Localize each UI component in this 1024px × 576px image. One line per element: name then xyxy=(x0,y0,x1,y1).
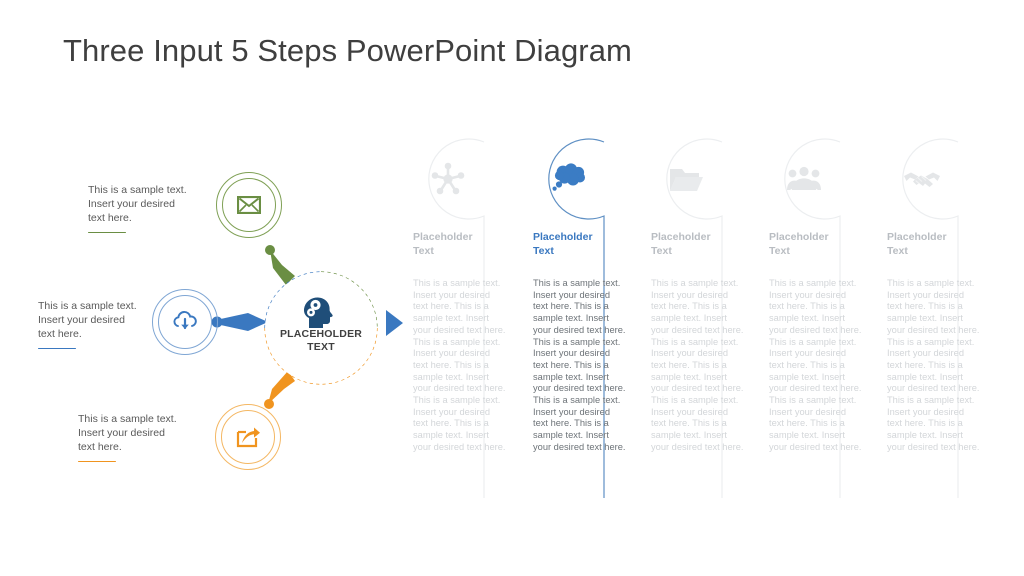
connector-blue xyxy=(216,313,268,331)
input-node-cloud-download[interactable] xyxy=(152,289,218,355)
step-card-5-title: Placeholder Text xyxy=(887,230,987,258)
input-node-email[interactable] xyxy=(216,172,282,238)
step-card-3-title: Placeholder Text xyxy=(651,230,751,258)
hub-label: PLACEHOLDER TEXT xyxy=(265,328,377,354)
people-group-icon xyxy=(769,144,839,214)
step-card-5[interactable]: Placeholder Text This is a sample text. … xyxy=(874,138,992,502)
step-card-4[interactable]: Placeholder Text This is a sample text. … xyxy=(756,138,874,502)
thought-bubble-icon xyxy=(533,144,603,214)
step-card-3-body: This is a sample text. Insert your desir… xyxy=(651,278,745,454)
input-cloud-text: This is a sample text. Insert your desir… xyxy=(38,299,150,342)
share-export-icon xyxy=(215,404,281,470)
input-cloud-rule xyxy=(38,348,76,349)
handshake-icon xyxy=(887,144,957,214)
step-card-1-body: This is a sample text. Insert your desir… xyxy=(413,278,507,454)
input-share-text: This is a sample text. Insert your desir… xyxy=(78,412,190,455)
head-with-gears-icon xyxy=(265,295,377,331)
step-card-2-title: Placeholder Text xyxy=(533,230,633,258)
step-card-4-title: Placeholder Text xyxy=(769,230,869,258)
step-card-3[interactable]: Placeholder Text This is a sample text. … xyxy=(638,138,756,502)
step-card-5-body: This is a sample text. Insert your desir… xyxy=(887,278,981,454)
step-card-4-body: This is a sample text. Insert your desir… xyxy=(769,278,863,454)
slide-canvas: Three Input 5 Steps PowerPoint Diagram T… xyxy=(0,0,1024,576)
input-block-email: This is a sample text. Insert your desir… xyxy=(88,183,200,233)
step-card-1-title: Placeholder Text xyxy=(413,230,513,258)
hub-center[interactable]: PLACEHOLDER TEXT xyxy=(265,272,377,384)
step-card-1[interactable]: Placeholder Text This is a sample text. … xyxy=(400,138,518,502)
folder-icon xyxy=(651,144,721,214)
input-email-rule xyxy=(88,232,126,233)
step-card-2-body: This is a sample text. Insert your desir… xyxy=(533,278,627,454)
page-title: Three Input 5 Steps PowerPoint Diagram xyxy=(63,33,632,69)
input-email-text: This is a sample text. Insert your desir… xyxy=(88,183,200,226)
cloud-download-icon xyxy=(152,289,218,355)
connector-green-dot xyxy=(265,245,275,255)
input-node-share[interactable] xyxy=(215,404,281,470)
input-share-rule xyxy=(78,461,116,462)
envelope-icon xyxy=(216,172,282,238)
network-hub-icon xyxy=(413,144,483,214)
input-block-cloud: This is a sample text. Insert your desir… xyxy=(38,299,150,349)
step-card-2[interactable]: Placeholder Text This is a sample text. … xyxy=(520,138,638,502)
input-block-share: This is a sample text. Insert your desir… xyxy=(78,412,190,462)
